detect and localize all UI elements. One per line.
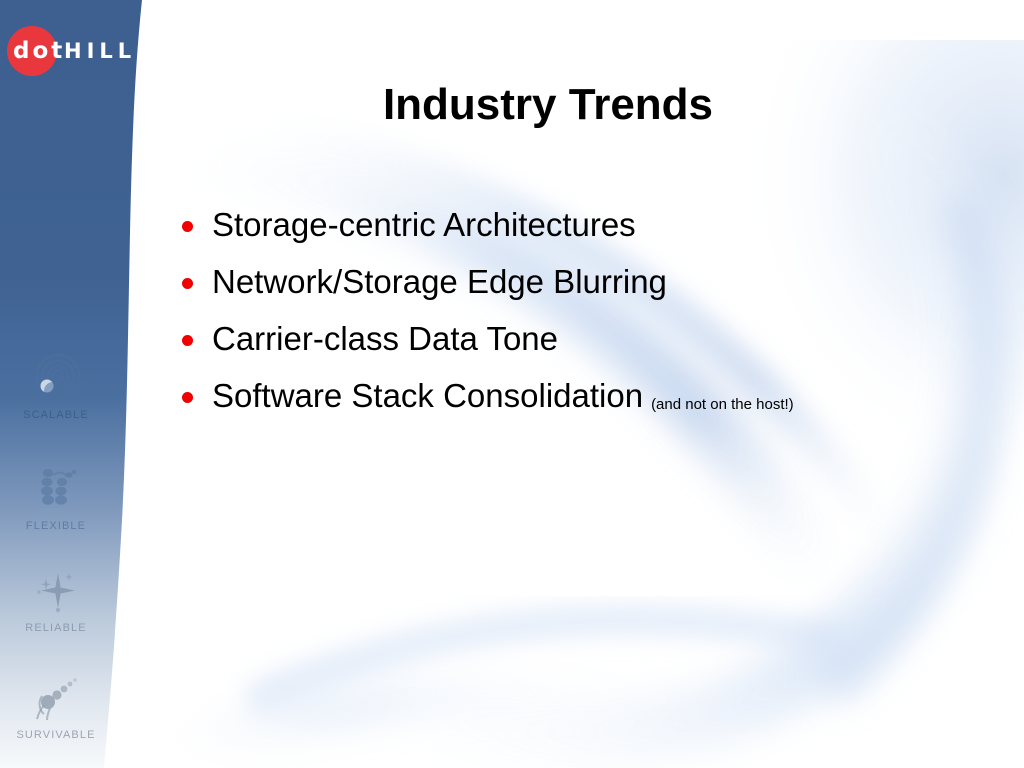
sidebar-feature-survivable: SURVIVABLE	[0, 672, 112, 741]
dothill-logo: dot HILL	[0, 22, 150, 80]
bullet-text: Carrier-class Data Tone	[212, 320, 558, 358]
sidebar-feature-label: FLEXIBLE	[0, 520, 112, 532]
spine-segments-icon	[28, 463, 84, 517]
list-item: Carrier-class Data Tone	[160, 310, 990, 367]
sidebar-feature-label: SURVIVABLE	[0, 729, 112, 741]
comet-trail-icon	[28, 672, 84, 726]
slide-canvas: dot HILL SCALABLE	[0, 0, 1024, 768]
sidebar-feature-label: RELIABLE	[0, 622, 112, 634]
bullet-list: Storage-centric Architectures Network/St…	[160, 196, 990, 424]
slide-content: Industry Trends Storage-centric Architec…	[148, 0, 1024, 768]
bullet-note	[667, 299, 675, 301]
sidebar-feature-label: SCALABLE	[0, 409, 112, 421]
bullet-note: (and not on the host!)	[643, 396, 794, 415]
bullet-text: Network/Storage Edge Blurring	[212, 263, 667, 301]
logo-hill-text: HILL	[64, 38, 136, 65]
sidebar-feature-scalable: SCALABLE	[0, 352, 112, 421]
bullet-dot-icon	[182, 392, 193, 403]
bullet-dot-icon	[182, 335, 193, 346]
bullet-dot-icon	[182, 221, 193, 232]
logo-dot-text: dot	[13, 37, 65, 65]
sidebar-feature-flexible: FLEXIBLE	[0, 463, 112, 532]
bullet-text: Software Stack Consolidation	[212, 377, 643, 415]
bullet-text: Storage-centric Architectures	[212, 206, 636, 244]
list-item: Network/Storage Edge Blurring	[160, 253, 990, 310]
sidebar-feature-reliable: RELIABLE	[0, 565, 112, 634]
concentric-rings-icon	[28, 352, 84, 406]
bullet-note	[636, 242, 644, 244]
sparkle-star-icon	[28, 565, 84, 619]
bullet-dot-icon	[182, 278, 193, 289]
list-item: Software Stack Consolidation (and not on…	[160, 367, 990, 424]
list-item: Storage-centric Architectures	[160, 196, 990, 253]
page-title: Industry Trends	[148, 80, 948, 130]
bullet-note	[558, 356, 566, 358]
